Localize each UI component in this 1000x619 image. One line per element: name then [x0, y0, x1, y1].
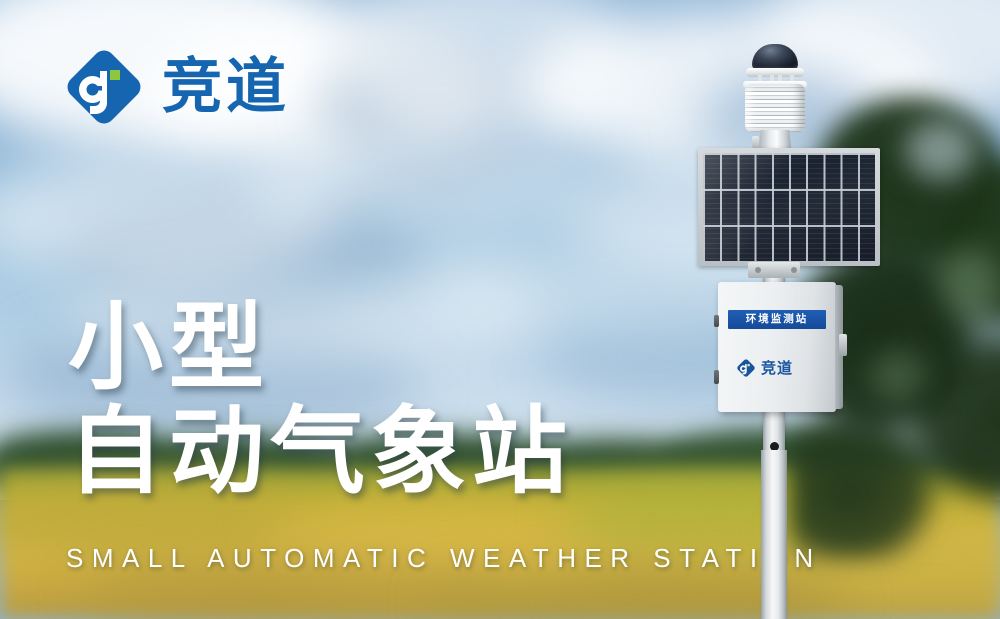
- wind-sensor-dome-icon: [752, 44, 798, 70]
- radiation-shield: [745, 84, 805, 132]
- headline-line-2: 自动气象站: [68, 400, 573, 504]
- control-box: 环境监测站 竞道: [718, 282, 836, 412]
- bracket-bolt: [755, 267, 761, 273]
- tree-light-gap: [940, 250, 1000, 320]
- control-box-logo-text: 竞道: [761, 361, 793, 376]
- control-box-logo: 竞道: [736, 357, 824, 379]
- control-box-banner-text: 环境监测站: [746, 314, 809, 325]
- brand-logo-text: 竞道: [162, 57, 290, 117]
- control-box-banner: 环境监测站: [728, 310, 826, 329]
- banner-stage: 竞道 小型 自动气象站 SMALL AUTOMATIC WEATHER STAT…: [0, 0, 1000, 619]
- weather-station-device: 环境监测站 竞道: [660, 30, 920, 619]
- brand-logo[interactable]: 竞道: [62, 45, 290, 129]
- mounting-pole-lower: [761, 450, 787, 619]
- sensor-head: [732, 44, 816, 154]
- control-box-tab: [839, 334, 847, 356]
- solar-panel-cells: [703, 153, 875, 261]
- headline-line-1: 小型: [68, 296, 573, 400]
- control-box-latch: [714, 315, 719, 327]
- bracket-bolt: [791, 267, 797, 273]
- solar-panel-gloss: [703, 153, 875, 261]
- control-box-latch: [714, 370, 719, 384]
- headline-block: 小型 自动气象站: [68, 296, 573, 504]
- jingdao-diamond-logo-icon: [62, 45, 146, 129]
- solar-panel: [698, 148, 880, 266]
- jingdao-diamond-logo-icon: [736, 358, 756, 378]
- cloud-blob: [250, 120, 590, 240]
- sensor-clip: [752, 136, 759, 148]
